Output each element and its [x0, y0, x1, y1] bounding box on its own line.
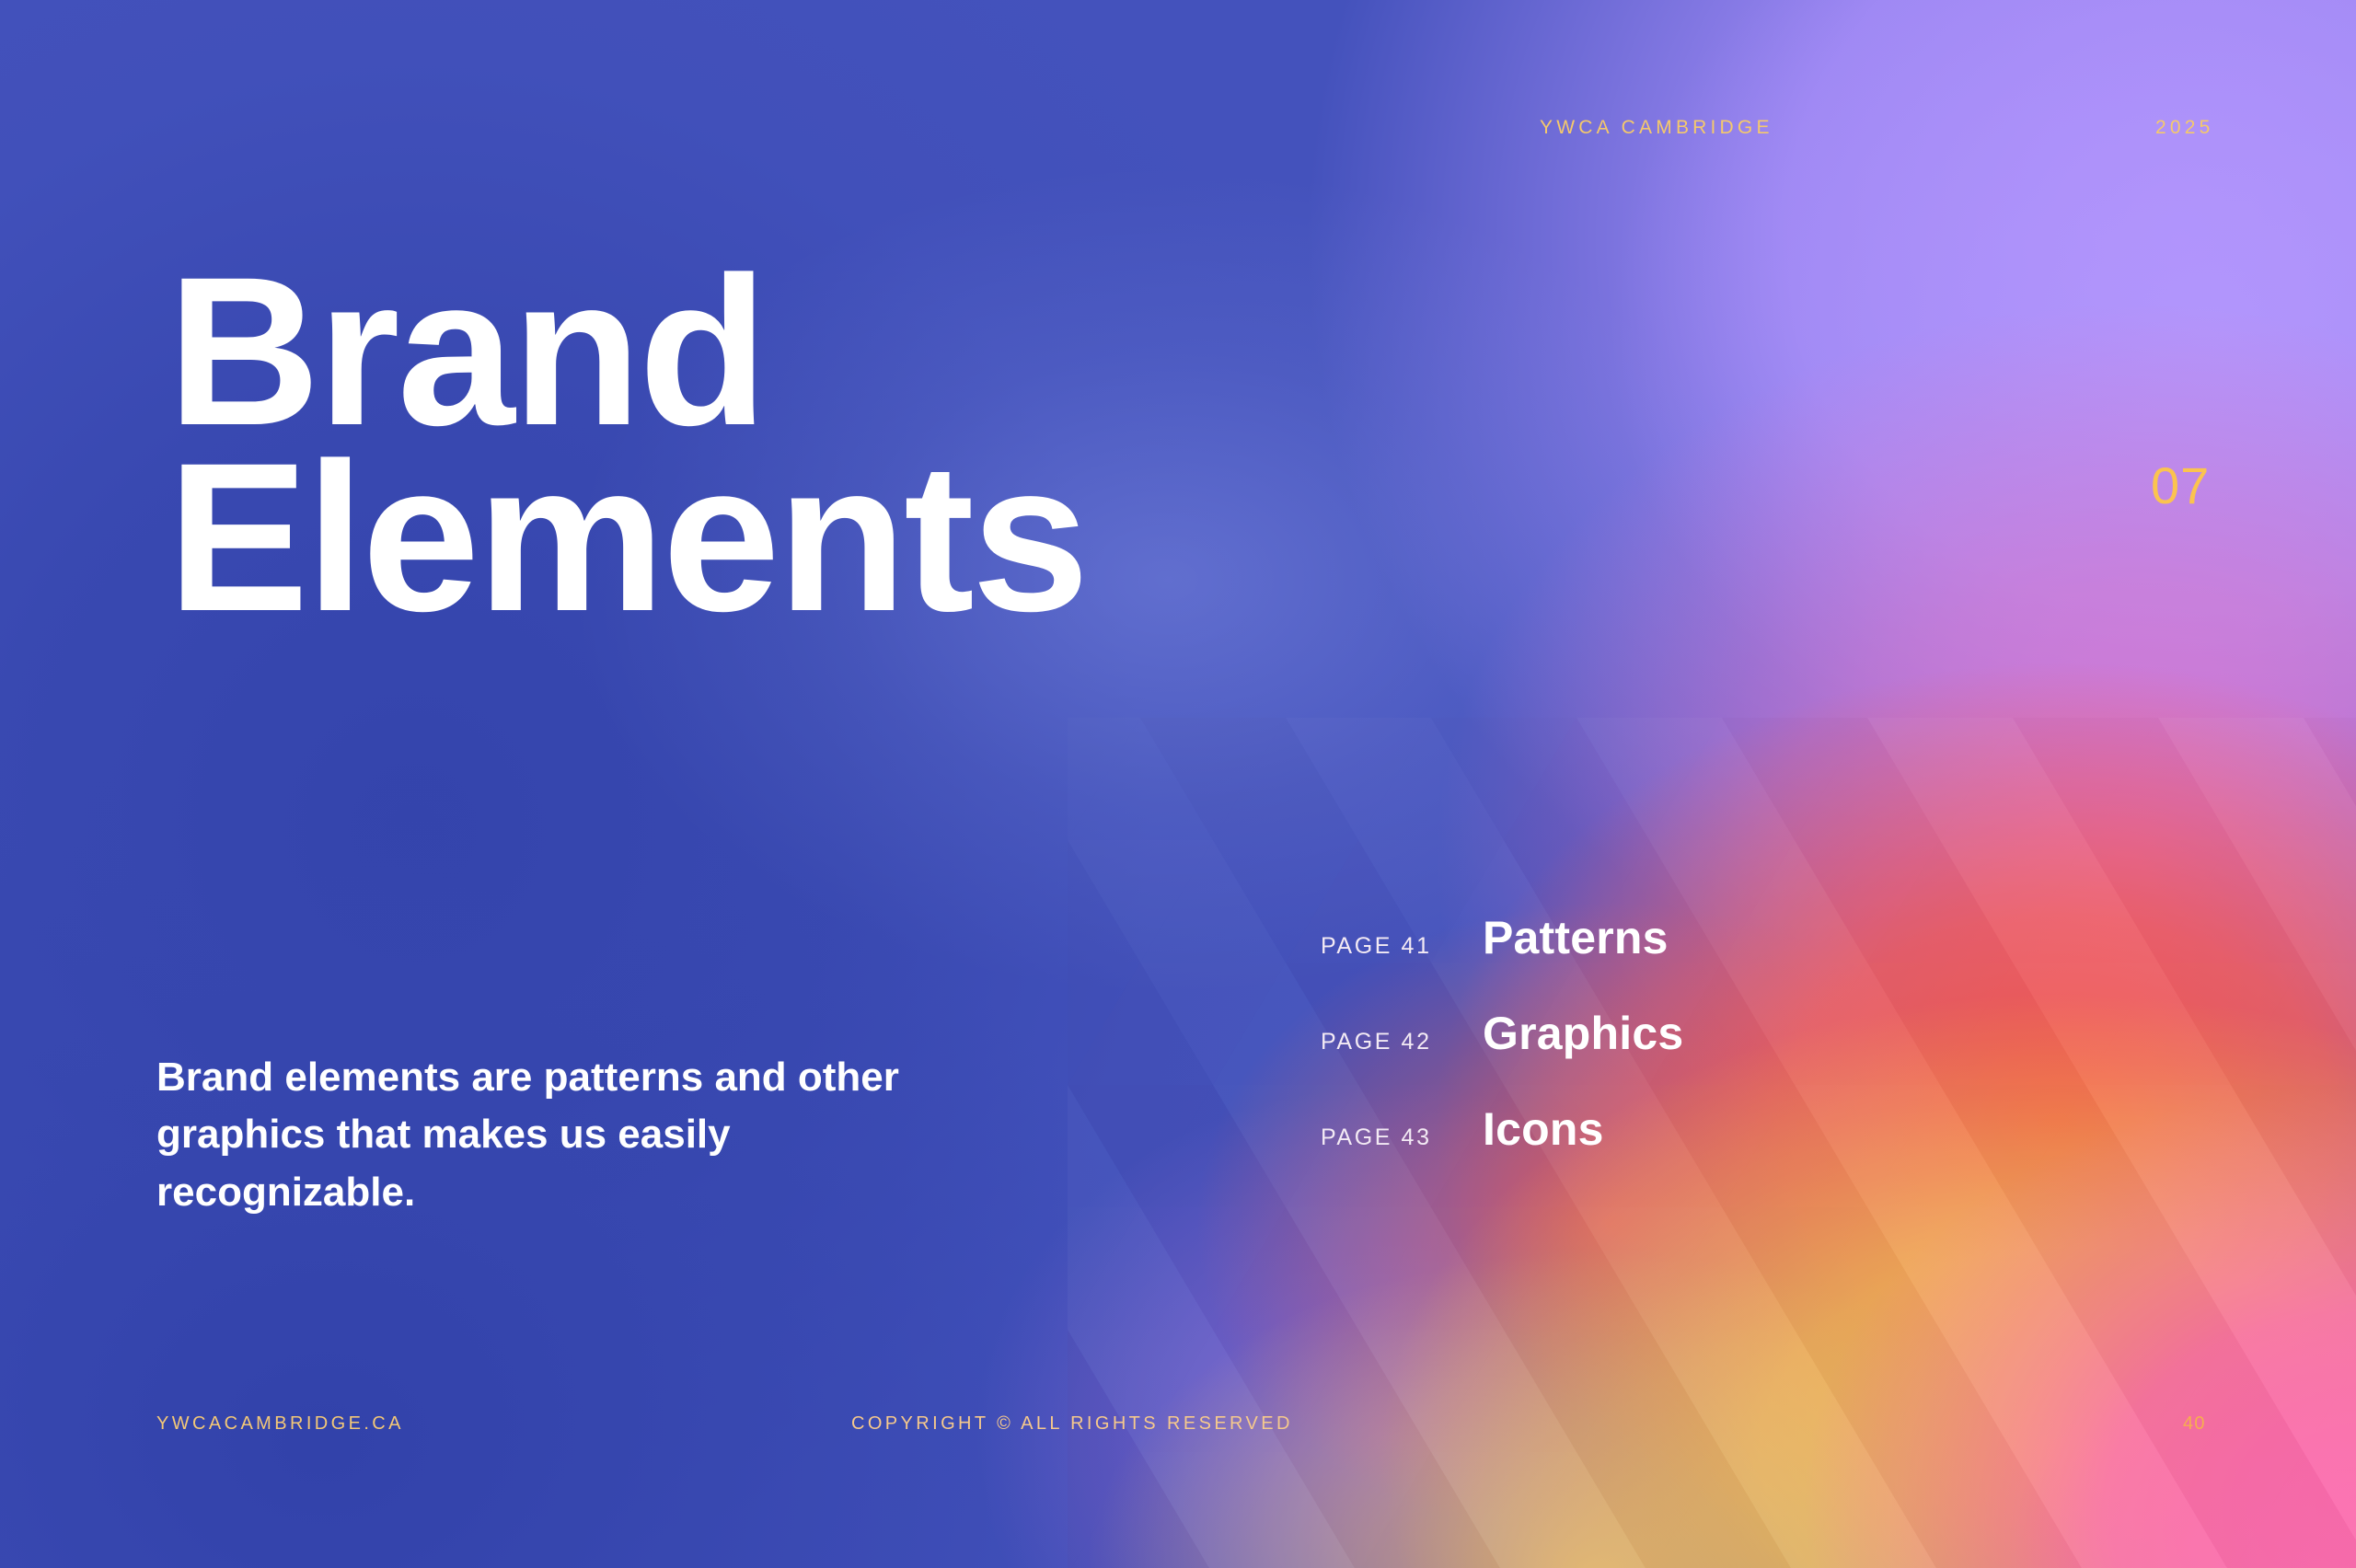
- toc-page-label: PAGE 41: [1321, 933, 1483, 960]
- slide-canvas: YWCA CAMBRIDGE 2025 07 Brand Elements Br…: [0, 0, 2356, 1568]
- page-title-line-2: Elements: [167, 444, 1502, 630]
- toc-item-icons[interactable]: PAGE 43 Icons: [1321, 1102, 1965, 1198]
- header-organization: YWCA CAMBRIDGE: [1540, 117, 1773, 139]
- slide-content: YWCA CAMBRIDGE 2025 07 Brand Elements Br…: [0, 0, 2356, 1568]
- footer-website[interactable]: YWCACAMBRIDGE.CA: [156, 1413, 404, 1435]
- toc-item-graphics[interactable]: PAGE 42 Graphics: [1321, 1007, 1965, 1102]
- section-description: Brand elements are patterns and other gr…: [156, 1049, 930, 1221]
- toc-page-label: PAGE 42: [1321, 1029, 1483, 1055]
- page-title-line-1: Brand: [167, 259, 1502, 444]
- table-of-contents: PAGE 41 Patterns PAGE 42 Graphics PAGE 4…: [1321, 911, 1965, 1198]
- page-title: Brand Elements: [167, 259, 1502, 631]
- section-number: 07: [2151, 460, 2210, 512]
- footer-page-number: 40: [2183, 1413, 2206, 1435]
- toc-entry-title: Graphics: [1483, 1007, 1683, 1060]
- footer-copyright: COPYRIGHT © ALL RIGHTS RESERVED: [851, 1413, 1293, 1435]
- toc-entry-title: Icons: [1483, 1102, 1604, 1156]
- toc-item-patterns[interactable]: PAGE 41 Patterns: [1321, 911, 1965, 1007]
- header-year: 2025: [2155, 117, 2214, 139]
- toc-page-label: PAGE 43: [1321, 1124, 1483, 1151]
- toc-entry-title: Patterns: [1483, 911, 1669, 964]
